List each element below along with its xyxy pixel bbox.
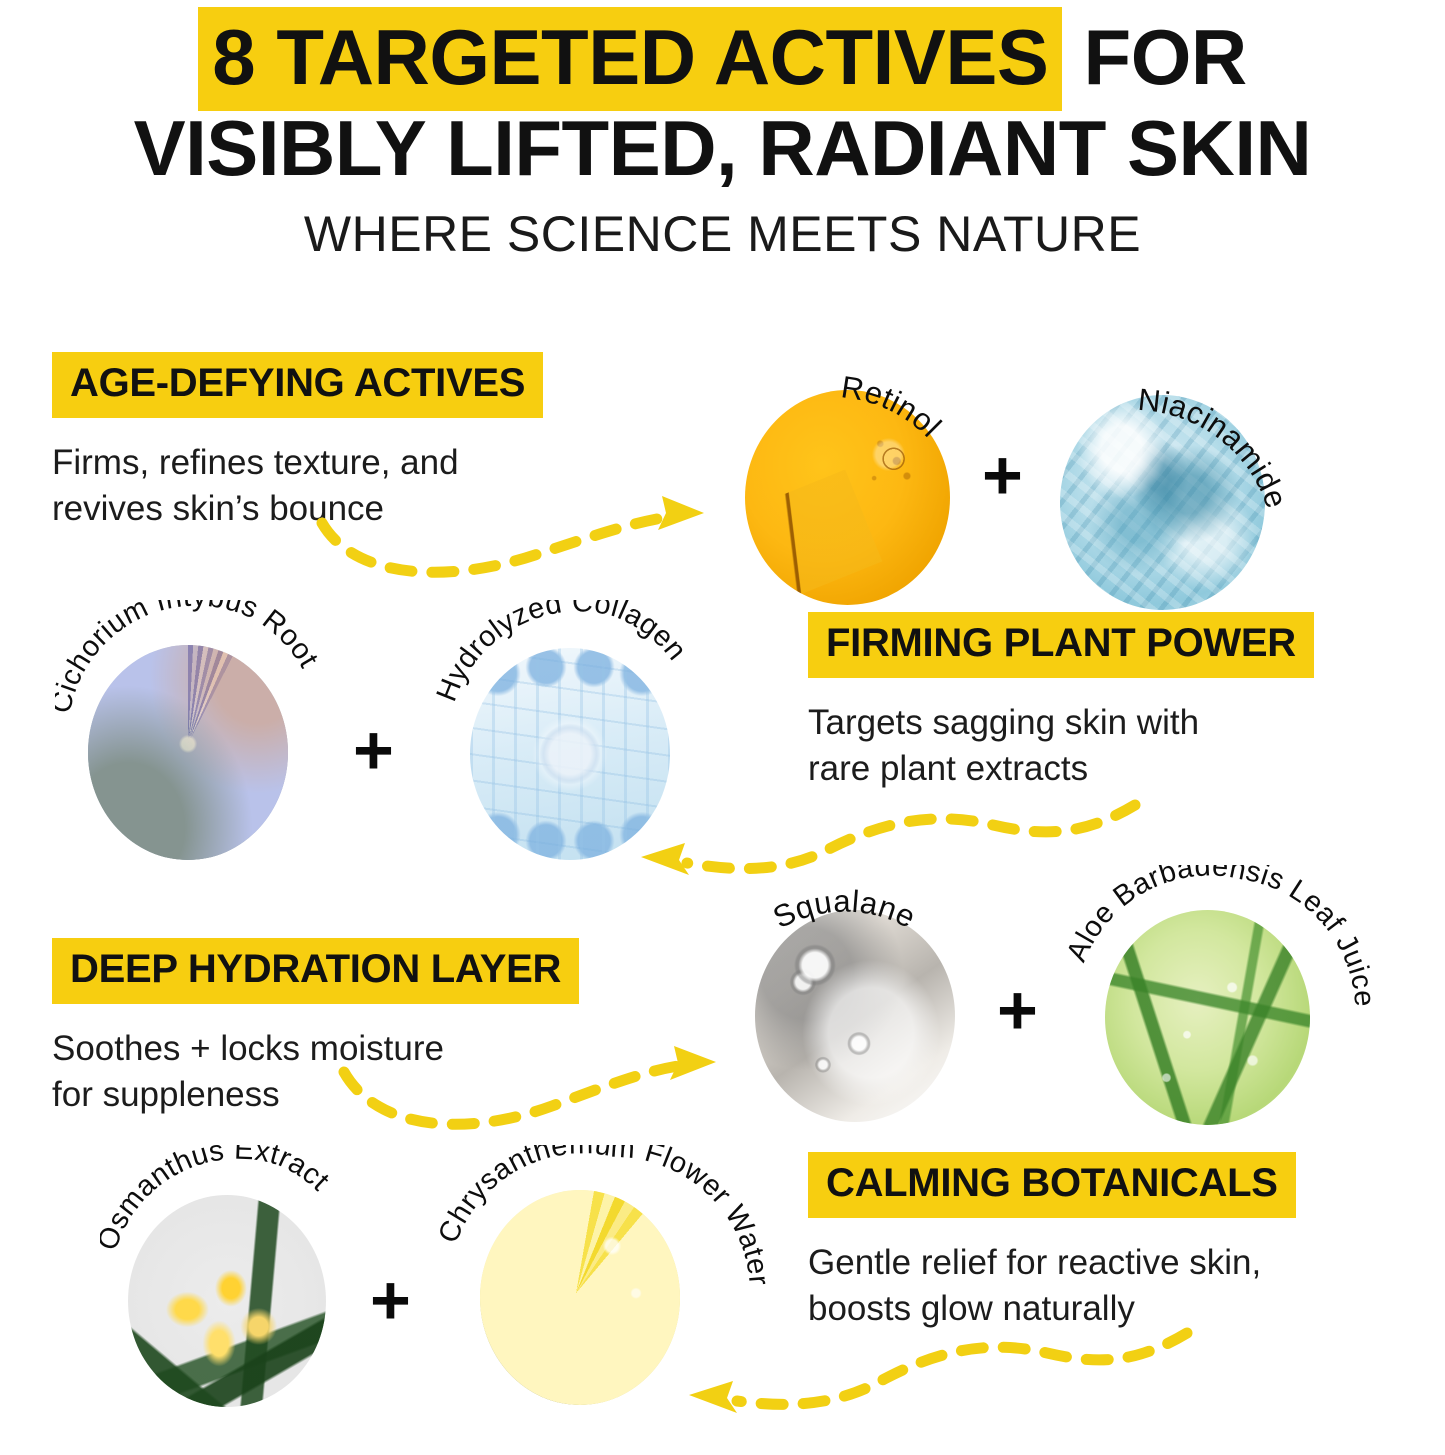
section-calming-botanicals: CALMING BOTANICALS Gentle relief for rea… [808,1152,1296,1332]
ingredient-pair-botanicals: Osmanthus Extract + Chrysanthemum Flower… [100,1145,800,1445]
headline-line-2: VISIBLY LIFTED, RADIANT SKIN [0,108,1445,190]
ingredient-pair-actives: Retinol + Niacinamide [700,330,1400,610]
ingredient-hydrolyzed-collagen: Hydrolyzed Collagen [425,600,745,890]
section-title-badge: FIRMING PLANT POWER [808,612,1314,678]
section-description: Firms, refines texture, and revives skin… [52,440,543,532]
headline-line-1: 8 TARGETED ACTIVES FOR [0,18,1445,98]
section-description-line-2: for suppleness [52,1072,579,1118]
squalane-swatch [755,910,955,1122]
section-description-line-2: revives skin’s bounce [52,486,543,532]
retinol-swatch [745,390,950,605]
section-deep-hydration-layer: DEEP HYDRATION LAYER Soothes + locks moi… [52,938,579,1118]
aloe-swatch [1105,910,1310,1125]
headline-line-1-rest: FOR [1084,13,1247,101]
chicory-flower-swatch [88,645,288,860]
section-description-line-1: Gentle relief for reactive skin, [808,1240,1296,1286]
plus-icon: + [370,1265,411,1335]
section-title: DEEP HYDRATION LAYER [70,947,561,992]
section-title-badge: DEEP HYDRATION LAYER [52,938,579,1004]
section-title: FIRMING PLANT POWER [826,621,1296,666]
section-description-line-1: Targets sagging skin with [808,700,1314,746]
ingredient-cichorium-intybus-root: Cichorium Intybus Root [55,600,355,890]
plus-icon: + [997,975,1038,1045]
section-firming-plant-power: FIRMING PLANT POWER Targets sagging skin… [808,612,1314,792]
ingredient-pair-hydration: Squalane + Aloe Barbadensis Leaf Juice [725,865,1425,1165]
section-title: AGE-DEFYING ACTIVES [70,361,525,406]
section-age-defying-actives: AGE-DEFYING ACTIVES Firms, refines textu… [52,352,543,532]
osmanthus-swatch [128,1195,326,1407]
ingredient-retinol: Retinol [735,375,975,615]
ingredient-pair-plant: Cichorium Intybus Root + Hydrolyzed Coll… [55,600,755,890]
niacinamide-swatch [1060,395,1265,610]
section-description: Soothes + locks moisture for suppleness [52,1026,579,1118]
ingredient-osmanthus-extract: Osmanthus Extract [100,1145,400,1435]
ingredient-squalane: Squalane [725,865,1015,1145]
plus-icon: + [982,440,1023,510]
section-description-line-1: Soothes + locks moisture [52,1026,579,1072]
section-description-line-1: Firms, refines texture, and [52,440,543,486]
headline-highlight: 8 TARGETED ACTIVES [198,7,1062,111]
section-title-badge: AGE-DEFYING ACTIVES [52,352,543,418]
chrysanthemum-swatch [480,1190,680,1405]
page-header: 8 TARGETED ACTIVES FOR VISIBLY LIFTED, R… [0,18,1445,262]
ingredient-chrysanthemum-flower-water: Chrysanthemum Flower Water [430,1145,780,1445]
section-description-line-2: rare plant extracts [808,746,1314,792]
plus-icon: + [353,715,394,785]
section-description: Targets sagging skin with rare plant ext… [808,700,1314,792]
page-subtitle: WHERE SCIENCE MEETS NATURE [0,207,1445,262]
collagen-swatch [470,648,670,860]
section-description: Gentle relief for reactive skin, boosts … [808,1240,1296,1332]
ingredient-aloe-barbadensis-leaf-juice: Aloe Barbadensis Leaf Juice [1060,865,1410,1165]
ingredient-niacinamide: Niacinamide [1045,370,1325,620]
section-description-line-2: boosts glow naturally [808,1286,1296,1332]
infographic-canvas: 8 TARGETED ACTIVES FOR VISIBLY LIFTED, R… [0,0,1445,1445]
section-title: CALMING BOTANICALS [826,1161,1278,1206]
